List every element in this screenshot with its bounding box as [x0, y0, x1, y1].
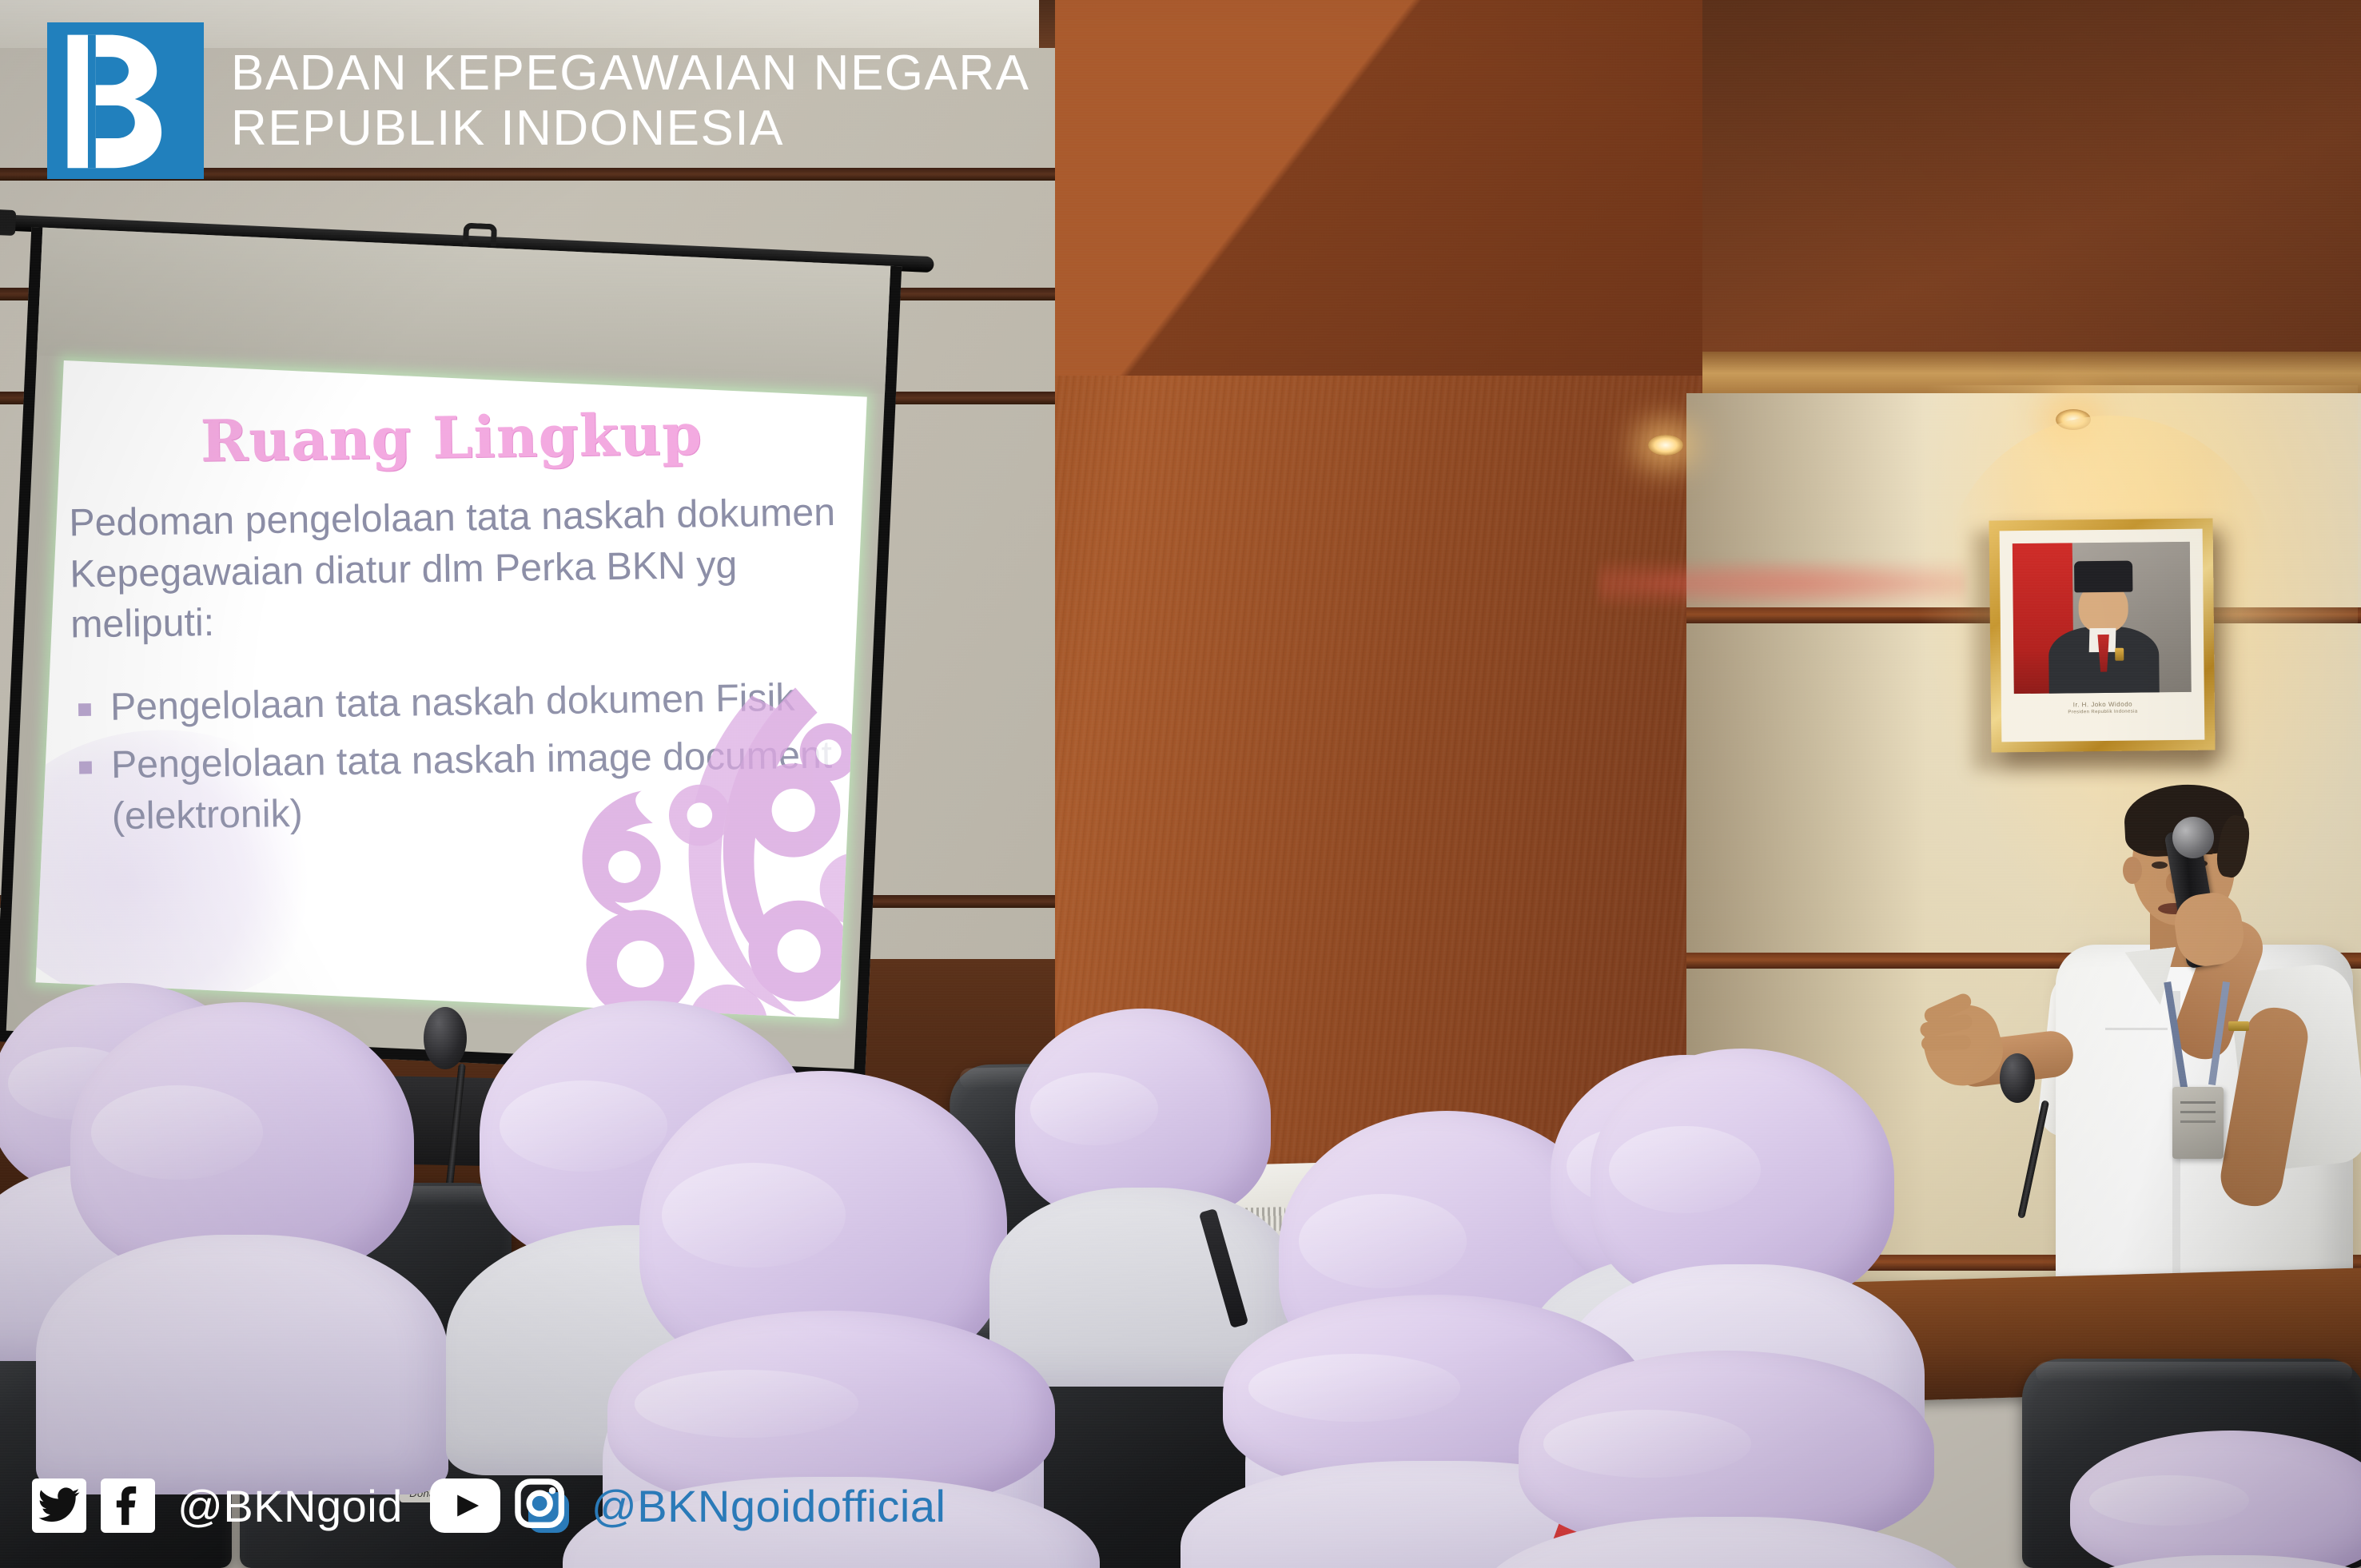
conference-room-scene: Ruang Lingkup Pedoman pengelolaan tata n…	[0, 0, 2361, 1568]
portrait-caption-name: Ir. H. Joko Widodo	[2014, 700, 2192, 709]
portrait-mat: Ir. H. Joko Widodo Presiden Republik Ind…	[2000, 529, 2205, 742]
org-name-line2: REPUBLIK INDONESIA	[231, 101, 1030, 156]
hijab-fold	[1030, 1073, 1158, 1145]
screenshot-root: Ruang Lingkup Pedoman pengelolaan tata n…	[0, 0, 2361, 1568]
logo-b-lower-counter	[96, 105, 135, 138]
hijab-fold	[662, 1163, 846, 1268]
youtube-play-glyph	[430, 1478, 500, 1533]
audience-member	[70, 1002, 414, 1450]
bkn-logo-block: BADAN KEPEGAWAIAN NEGARA REPUBLIK INDONE…	[46, 22, 1030, 179]
portrait-caption-title: Presiden Republik Indonesia	[2014, 709, 2192, 715]
id-badge	[2172, 1087, 2224, 1159]
org-name-line1: BADAN KEPEGAWAIAN NEGARA	[231, 46, 1030, 101]
bkn-b-glyph	[46, 22, 205, 179]
instagram-camera-glyph	[515, 1478, 569, 1533]
batik-swirl-ornament	[508, 686, 866, 1019]
hijab-fold	[1248, 1354, 1460, 1421]
chair-headrest	[2036, 1362, 2352, 1383]
twitter-bird-glyph	[32, 1478, 86, 1533]
hijab	[2070, 1431, 2361, 1568]
hijab-fold	[635, 1370, 858, 1437]
portrait-photo	[2013, 542, 2192, 694]
name-pin	[2228, 1021, 2249, 1031]
youtube-icon[interactable]	[430, 1478, 500, 1533]
screen-rod-cap	[0, 209, 16, 236]
screen-hook	[463, 223, 497, 247]
presenter-ear	[2123, 857, 2142, 884]
hijab-fold	[1609, 1126, 1761, 1214]
organisation-name: BADAN KEPEGAWAIAN NEGARA REPUBLIK INDONE…	[231, 46, 1030, 157]
logo-b-upper-counter	[96, 57, 129, 85]
mic-capsule	[424, 1007, 467, 1069]
slide-title: Ruang Lingkup	[35, 399, 866, 478]
logo-b-stem-gap	[88, 35, 96, 169]
finger	[1921, 1035, 1972, 1051]
screen-surface: Ruang Lingkup Pedoman pengelolaan tata n…	[0, 227, 902, 1080]
hijab-fold	[2089, 1475, 2249, 1526]
hijab-fold	[91, 1085, 263, 1180]
wood-light-cove	[1702, 352, 2361, 400]
portrait-caption: Ir. H. Joko Widodo Presiden Republik Ind…	[2014, 700, 2192, 715]
audience-member	[2070, 1431, 2361, 1568]
shirt-pocket	[2105, 1028, 2168, 1041]
mic-capsule	[2000, 1053, 2035, 1103]
instagram-icon[interactable]	[515, 1478, 569, 1533]
portrait-lapel-pin	[2115, 647, 2124, 660]
wood-soffit	[1055, 0, 1702, 376]
uniform-shoulders	[1477, 1517, 1976, 1568]
wood-upper-right-panel	[1702, 0, 2361, 368]
projection-screen: Ruang Lingkup Pedoman pengelolaan tata n…	[0, 216, 922, 1094]
uniform-shoulders	[36, 1235, 448, 1494]
social-media-bar: @BKNgoid @BKNgoidofficial	[32, 1478, 973, 1533]
hijab-fold	[1543, 1410, 1751, 1477]
audience-member	[1519, 1351, 1934, 1568]
projector-light-spill	[1599, 551, 1966, 615]
facebook-icon[interactable]	[101, 1478, 155, 1533]
eye	[2152, 862, 2168, 869]
ceiling-light	[2056, 409, 2091, 430]
hijab-fold	[1299, 1194, 1467, 1288]
secondary-handle-text: @BKNgoidofficial	[591, 1480, 946, 1532]
twitter-icon[interactable]	[32, 1478, 86, 1533]
primary-handle-text: @BKNgoid	[177, 1480, 403, 1532]
bkn-b-logo-icon	[46, 22, 205, 179]
slide-lead-text: Pedoman pengelolaan tata naskah dokumen …	[69, 486, 851, 650]
ceiling-light	[1648, 435, 1683, 456]
facebook-f-glyph	[101, 1478, 155, 1533]
peci-cap-icon	[2074, 560, 2133, 592]
presidential-portrait-frame: Ir. H. Joko Widodo Presiden Republik Ind…	[1989, 519, 2215, 753]
presentation-slide: Ruang Lingkup Pedoman pengelolaan tata n…	[35, 360, 866, 1019]
